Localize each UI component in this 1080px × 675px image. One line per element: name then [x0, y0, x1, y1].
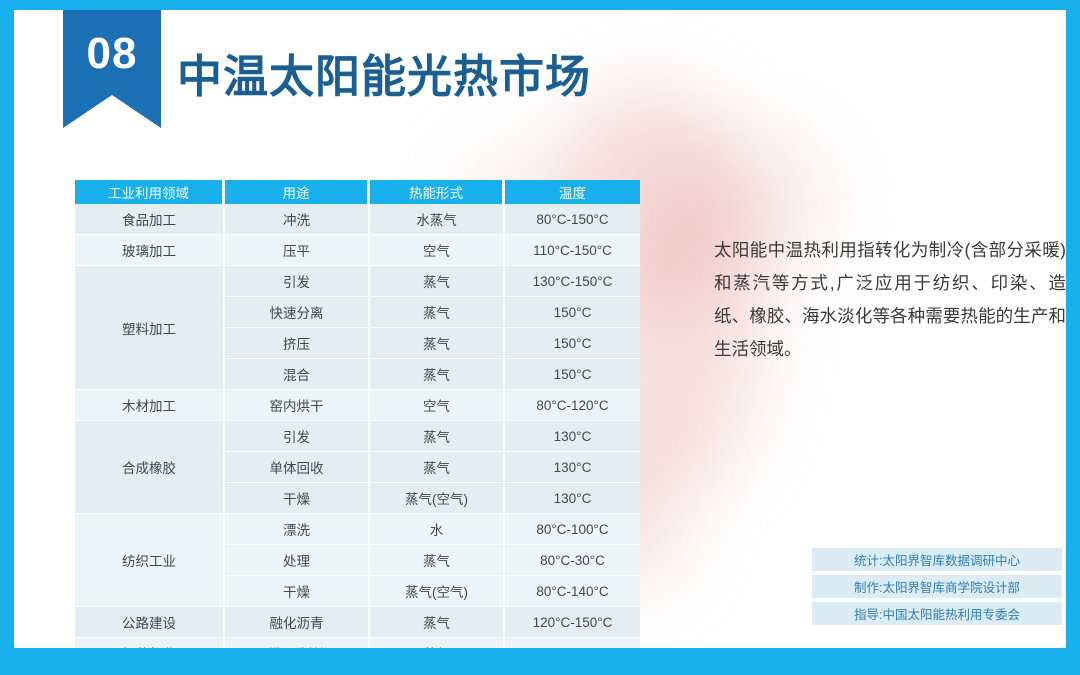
- column-header-use: 用途: [225, 180, 370, 204]
- table-cell-use: 融化沥青: [225, 607, 370, 638]
- credits-box: 统计:太阳界智库数据调研中心制作:太阳界智库商学院设计部指导:中国太阳能热利用专…: [812, 548, 1062, 625]
- table-cell-temp: 130°C: [505, 421, 640, 452]
- table-cell-temp: 150°C: [505, 328, 640, 359]
- table-cell-form: 蒸气: [370, 452, 505, 483]
- table-row: 融化沥青蒸气120°C-150°C: [225, 607, 640, 638]
- column-header-field: 工业利用领域: [75, 180, 225, 204]
- table-cell-temp: 80°C-100°C: [505, 514, 640, 545]
- credit-line: 制作:太阳界智库商学院设计部: [812, 575, 1062, 598]
- table-group: 玻璃加工压平空气110°C-150°C: [75, 235, 640, 266]
- table-row: 处理蒸气80°C-30°C: [225, 545, 640, 576]
- table-cell-form: 蒸气: [370, 421, 505, 452]
- section-number: 08: [63, 32, 161, 76]
- table-cell-use: 引发: [225, 421, 370, 452]
- column-header-form: 热能形式: [370, 180, 505, 204]
- column-header-temp: 温度: [505, 180, 640, 204]
- table-cell-temp: 150°C-200°C: [505, 638, 640, 648]
- table-cell-field: 烟草行业: [75, 638, 225, 648]
- table-cell-form: 空气: [370, 235, 505, 266]
- table-row: 窑内烘干空气80°C-120°C: [225, 390, 640, 421]
- table-cell-temp: 80°C-140°C: [505, 576, 640, 607]
- table-group-rows: 融化沥青蒸气120°C-150°C: [225, 607, 640, 638]
- table-cell-temp: 80°C-30°C: [505, 545, 640, 576]
- table-cell-form: 蒸气: [370, 266, 505, 297]
- table-cell-field: 食品加工: [75, 204, 225, 235]
- table-cell-use: 窑内烘干: [225, 390, 370, 421]
- section-number-ribbon: 08: [63, 10, 161, 128]
- table-group-rows: 烘干 制丝蒸气150°C-200°C: [225, 638, 640, 648]
- table-cell-use: 混合: [225, 359, 370, 390]
- table-group-rows: 窑内烘干空气80°C-120°C: [225, 390, 640, 421]
- table-group-rows: 压平空气110°C-150°C: [225, 235, 640, 266]
- table-cell-form: 蒸气: [370, 545, 505, 576]
- table-group: 木材加工窑内烘干空气80°C-120°C: [75, 390, 640, 421]
- table-cell-field: 合成橡胶: [75, 421, 225, 514]
- table-body: 食品加工冲洗水蒸气80°C-150°C玻璃加工压平空气110°C-150°C塑料…: [75, 204, 640, 648]
- table-cell-form: 蒸气: [370, 328, 505, 359]
- table-cell-temp: 130°C: [505, 483, 640, 514]
- table-row: 干燥蒸气(空气)80°C-140°C: [225, 576, 640, 607]
- table-row: 快速分离蒸气150°C: [225, 297, 640, 328]
- table-cell-temp: 80°C-150°C: [505, 204, 640, 235]
- credit-line: 统计:太阳界智库数据调研中心: [812, 548, 1062, 571]
- slide-frame: 08 中温太阳能光热市场 工业利用领域 用途 热能形式 温度 食品加工冲洗水蒸气…: [0, 0, 1080, 675]
- table-cell-use: 处理: [225, 545, 370, 576]
- table-cell-field: 木材加工: [75, 390, 225, 421]
- table-cell-temp: 110°C-150°C: [505, 235, 640, 266]
- table-cell-form: 蒸气: [370, 297, 505, 328]
- table-cell-use: 快速分离: [225, 297, 370, 328]
- table-cell-use: 压平: [225, 235, 370, 266]
- table-cell-temp: 130°C: [505, 452, 640, 483]
- page-title: 中温太阳能光热市场: [177, 40, 591, 105]
- table-cell-use: 单体回收: [225, 452, 370, 483]
- table-cell-temp: 120°C-150°C: [505, 607, 640, 638]
- table-group: 食品加工冲洗水蒸气80°C-150°C: [75, 204, 640, 235]
- table-group-rows: 引发蒸气130°C单体回收蒸气130°C干燥蒸气(空气)130°C: [225, 421, 640, 514]
- slide-canvas: 08 中温太阳能光热市场 工业利用领域 用途 热能形式 温度 食品加工冲洗水蒸气…: [14, 10, 1066, 648]
- usage-table: 工业利用领域 用途 热能形式 温度 食品加工冲洗水蒸气80°C-150°C玻璃加…: [75, 180, 640, 648]
- table-row: 烘干 制丝蒸气150°C-200°C: [225, 638, 640, 648]
- table-cell-form: 水: [370, 514, 505, 545]
- table-cell-temp: 150°C: [505, 359, 640, 390]
- table-cell-form: 水蒸气: [370, 204, 505, 235]
- table-cell-use: 烘干 制丝: [225, 638, 370, 648]
- table-group-rows: 冲洗水蒸气80°C-150°C: [225, 204, 640, 235]
- table-header-row: 工业利用领域 用途 热能形式 温度: [75, 180, 640, 204]
- table-group-rows: 漂洗水80°C-100°C处理蒸气80°C-30°C干燥蒸气(空气)80°C-1…: [225, 514, 640, 607]
- table-cell-field: 公路建设: [75, 607, 225, 638]
- table-row: 引发蒸气130°C-150°C: [225, 266, 640, 297]
- table-row: 干燥蒸气(空气)130°C: [225, 483, 640, 514]
- table-cell-use: 干燥: [225, 483, 370, 514]
- table-group: 公路建设融化沥青蒸气120°C-150°C: [75, 607, 640, 638]
- table-cell-form: 蒸气(空气): [370, 576, 505, 607]
- table-group: 合成橡胶引发蒸气130°C单体回收蒸气130°C干燥蒸气(空气)130°C: [75, 421, 640, 514]
- table-cell-use: 干燥: [225, 576, 370, 607]
- table-cell-form: 蒸气(空气): [370, 483, 505, 514]
- table-cell-temp: 130°C-150°C: [505, 266, 640, 297]
- table-group: 烟草行业烘干 制丝蒸气150°C-200°C: [75, 638, 640, 648]
- table-cell-field: 玻璃加工: [75, 235, 225, 266]
- description-text: 太阳能中温热利用指转化为制冷(含部分采暖)和蒸汽等方式,广泛应用于纺织、印染、造…: [714, 234, 1066, 366]
- table-group-rows: 引发蒸气130°C-150°C快速分离蒸气150°C挤压蒸气150°C混合蒸气1…: [225, 266, 640, 390]
- table-group: 塑料加工引发蒸气130°C-150°C快速分离蒸气150°C挤压蒸气150°C混…: [75, 266, 640, 390]
- table-cell-temp: 150°C: [505, 297, 640, 328]
- table-row: 挤压蒸气150°C: [225, 328, 640, 359]
- table-cell-form: 蒸气: [370, 607, 505, 638]
- table-group: 纺织工业漂洗水80°C-100°C处理蒸气80°C-30°C干燥蒸气(空气)80…: [75, 514, 640, 607]
- table-cell-use: 挤压: [225, 328, 370, 359]
- table-row: 混合蒸气150°C: [225, 359, 640, 390]
- table-row: 引发蒸气130°C: [225, 421, 640, 452]
- table-cell-field: 纺织工业: [75, 514, 225, 607]
- table-cell-form: 空气: [370, 390, 505, 421]
- table-cell-field: 塑料加工: [75, 266, 225, 390]
- credit-line: 指导:中国太阳能热利用专委会: [812, 602, 1062, 625]
- table-cell-temp: 80°C-120°C: [505, 390, 640, 421]
- table-row: 漂洗水80°C-100°C: [225, 514, 640, 545]
- table-cell-use: 漂洗: [225, 514, 370, 545]
- table-cell-use: 引发: [225, 266, 370, 297]
- table-row: 压平空气110°C-150°C: [225, 235, 640, 266]
- table-cell-form: 蒸气: [370, 359, 505, 390]
- table-row: 单体回收蒸气130°C: [225, 452, 640, 483]
- table-cell-form: 蒸气: [370, 638, 505, 648]
- table-cell-use: 冲洗: [225, 204, 370, 235]
- table-row: 冲洗水蒸气80°C-150°C: [225, 204, 640, 235]
